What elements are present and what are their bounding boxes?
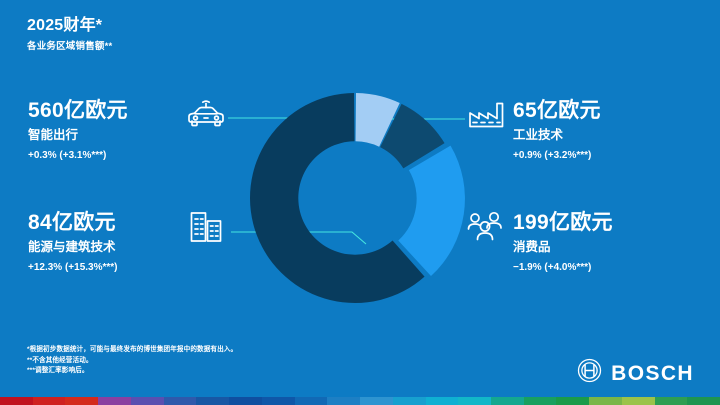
segment-label-industrial: 65亿欧元 工业技术 +0.9% (+3.2%***) — [513, 100, 601, 161]
supergraphic-stripe — [360, 397, 393, 405]
footnote-3: ***调整汇率影响后。 — [27, 366, 237, 377]
segment-value: 84亿欧元 — [28, 212, 118, 235]
supergraphic-stripe — [131, 397, 164, 405]
segment-label-consumer: 199亿欧元 消费品 −1.9% (+4.0%***) — [513, 212, 613, 273]
bosch-logo: BOSCH — [577, 358, 694, 388]
supergraphic-stripe — [589, 397, 622, 405]
supergraphic-stripe — [196, 397, 229, 405]
supergraphic-stripe — [556, 397, 589, 405]
footnotes: *根据初步数据统计，可能与最终发布的博世集团年报中的数据有出入。 **不含其他经… — [27, 345, 237, 377]
factory-icon — [468, 100, 505, 130]
segment-label-energy-building: 84亿欧元 能源与建筑技术 +12.3% (+15.3%***) — [28, 212, 118, 273]
page-title: 2025财年* — [27, 17, 102, 35]
supergraphic-stripe — [491, 397, 524, 405]
segment-name: 工业技术 — [513, 127, 601, 143]
page-subtitle: 各业务区域销售额** — [27, 38, 112, 52]
supergraphic-stripe — [98, 397, 131, 405]
segment-value: 199亿欧元 — [513, 212, 613, 235]
supergraphic-stripe — [65, 397, 98, 405]
segment-name: 能源与建筑技术 — [28, 239, 118, 255]
segment-delta: +0.3% (+3.1%***) — [28, 150, 128, 161]
segment-label-mobility: 560亿欧元 智能出行 +0.3% (+3.1%***) — [28, 100, 128, 161]
supergraphic-stripe — [655, 397, 688, 405]
footnote-2: **不含其他经营活动。 — [27, 356, 237, 367]
supergraphic-stripe — [524, 397, 557, 405]
supergraphic-stripe — [622, 397, 655, 405]
supergraphic-stripe — [327, 397, 360, 405]
bosch-supergraphic — [0, 397, 720, 405]
supergraphic-stripe — [393, 397, 426, 405]
segment-value: 560亿欧元 — [28, 100, 128, 123]
segment-delta: −1.9% (+4.0%***) — [513, 262, 613, 273]
segment-delta: +0.9% (+3.2%***) — [513, 150, 601, 161]
connected-car-icon — [186, 100, 226, 132]
supergraphic-stripe — [687, 397, 720, 405]
segment-delta: +12.3% (+15.3%***) — [28, 262, 118, 273]
supergraphic-stripe — [262, 397, 295, 405]
footnote-1: *根据初步数据统计，可能与最终发布的博世集团年报中的数据有出入。 — [27, 345, 237, 356]
supergraphic-stripe — [164, 397, 197, 405]
supergraphic-stripe — [458, 397, 491, 405]
slide-canvas: 2025财年* 各业务区域销售额** — [0, 0, 720, 405]
bosch-wordmark: BOSCH — [611, 363, 694, 384]
segment-name: 消费品 — [513, 239, 613, 255]
buildings-icon — [189, 210, 223, 244]
people-icon — [467, 211, 507, 241]
segment-value: 65亿欧元 — [513, 100, 601, 123]
donut-slices — [250, 93, 465, 303]
segment-name: 智能出行 — [28, 127, 128, 143]
supergraphic-stripe — [426, 397, 459, 405]
bosch-anchor-icon — [577, 358, 602, 388]
sales-by-business-sector-donut-chart — [245, 88, 465, 308]
supergraphic-stripe — [0, 397, 33, 405]
supergraphic-stripe — [33, 397, 66, 405]
supergraphic-stripe — [229, 397, 262, 405]
supergraphic-stripe — [295, 397, 328, 405]
